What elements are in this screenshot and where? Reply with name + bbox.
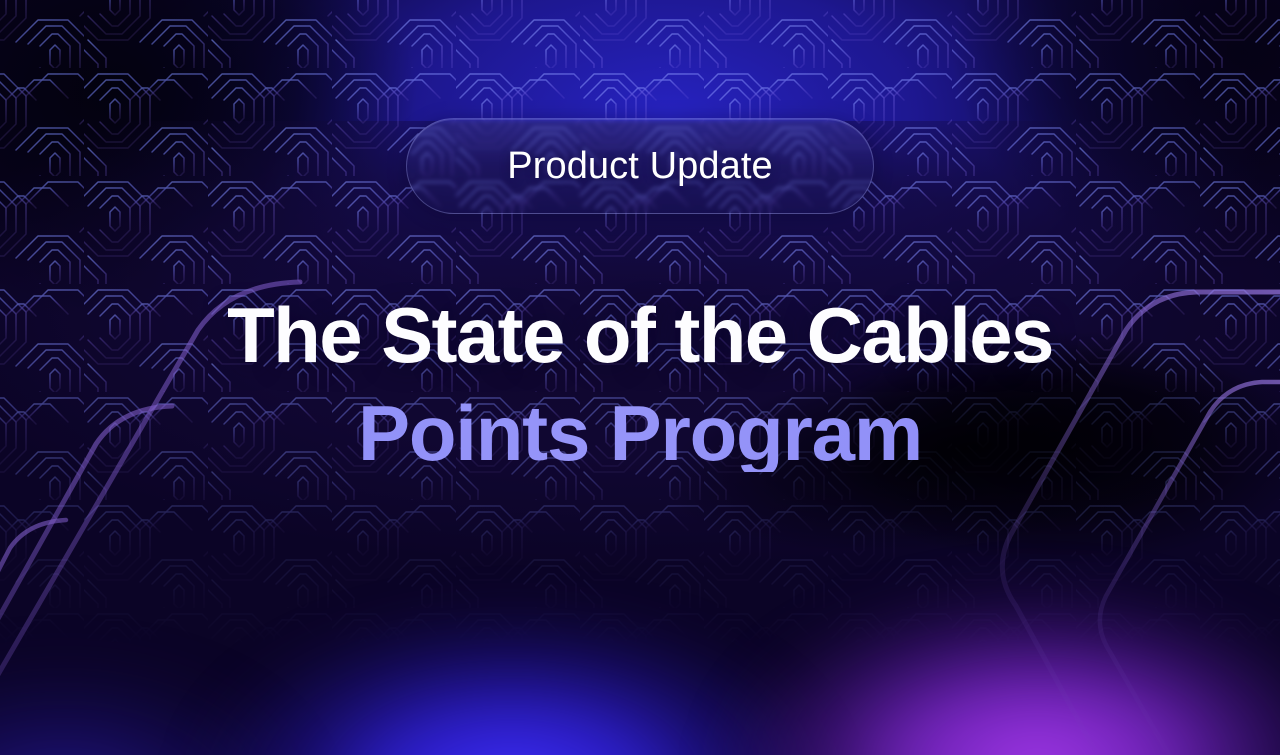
product-update-badge[interactable]: Product Update: [406, 118, 874, 214]
banner-content: Product Update The State of the Cables P…: [0, 0, 1280, 755]
badge-label: Product Update: [507, 147, 772, 185]
product-update-banner: Product Update The State of the Cables P…: [0, 0, 1280, 755]
headline-line-accent: Points Program: [0, 394, 1280, 472]
headline-line-primary: The State of the Cables: [0, 296, 1280, 374]
page-title: The State of the Cables Points Program: [0, 296, 1280, 472]
